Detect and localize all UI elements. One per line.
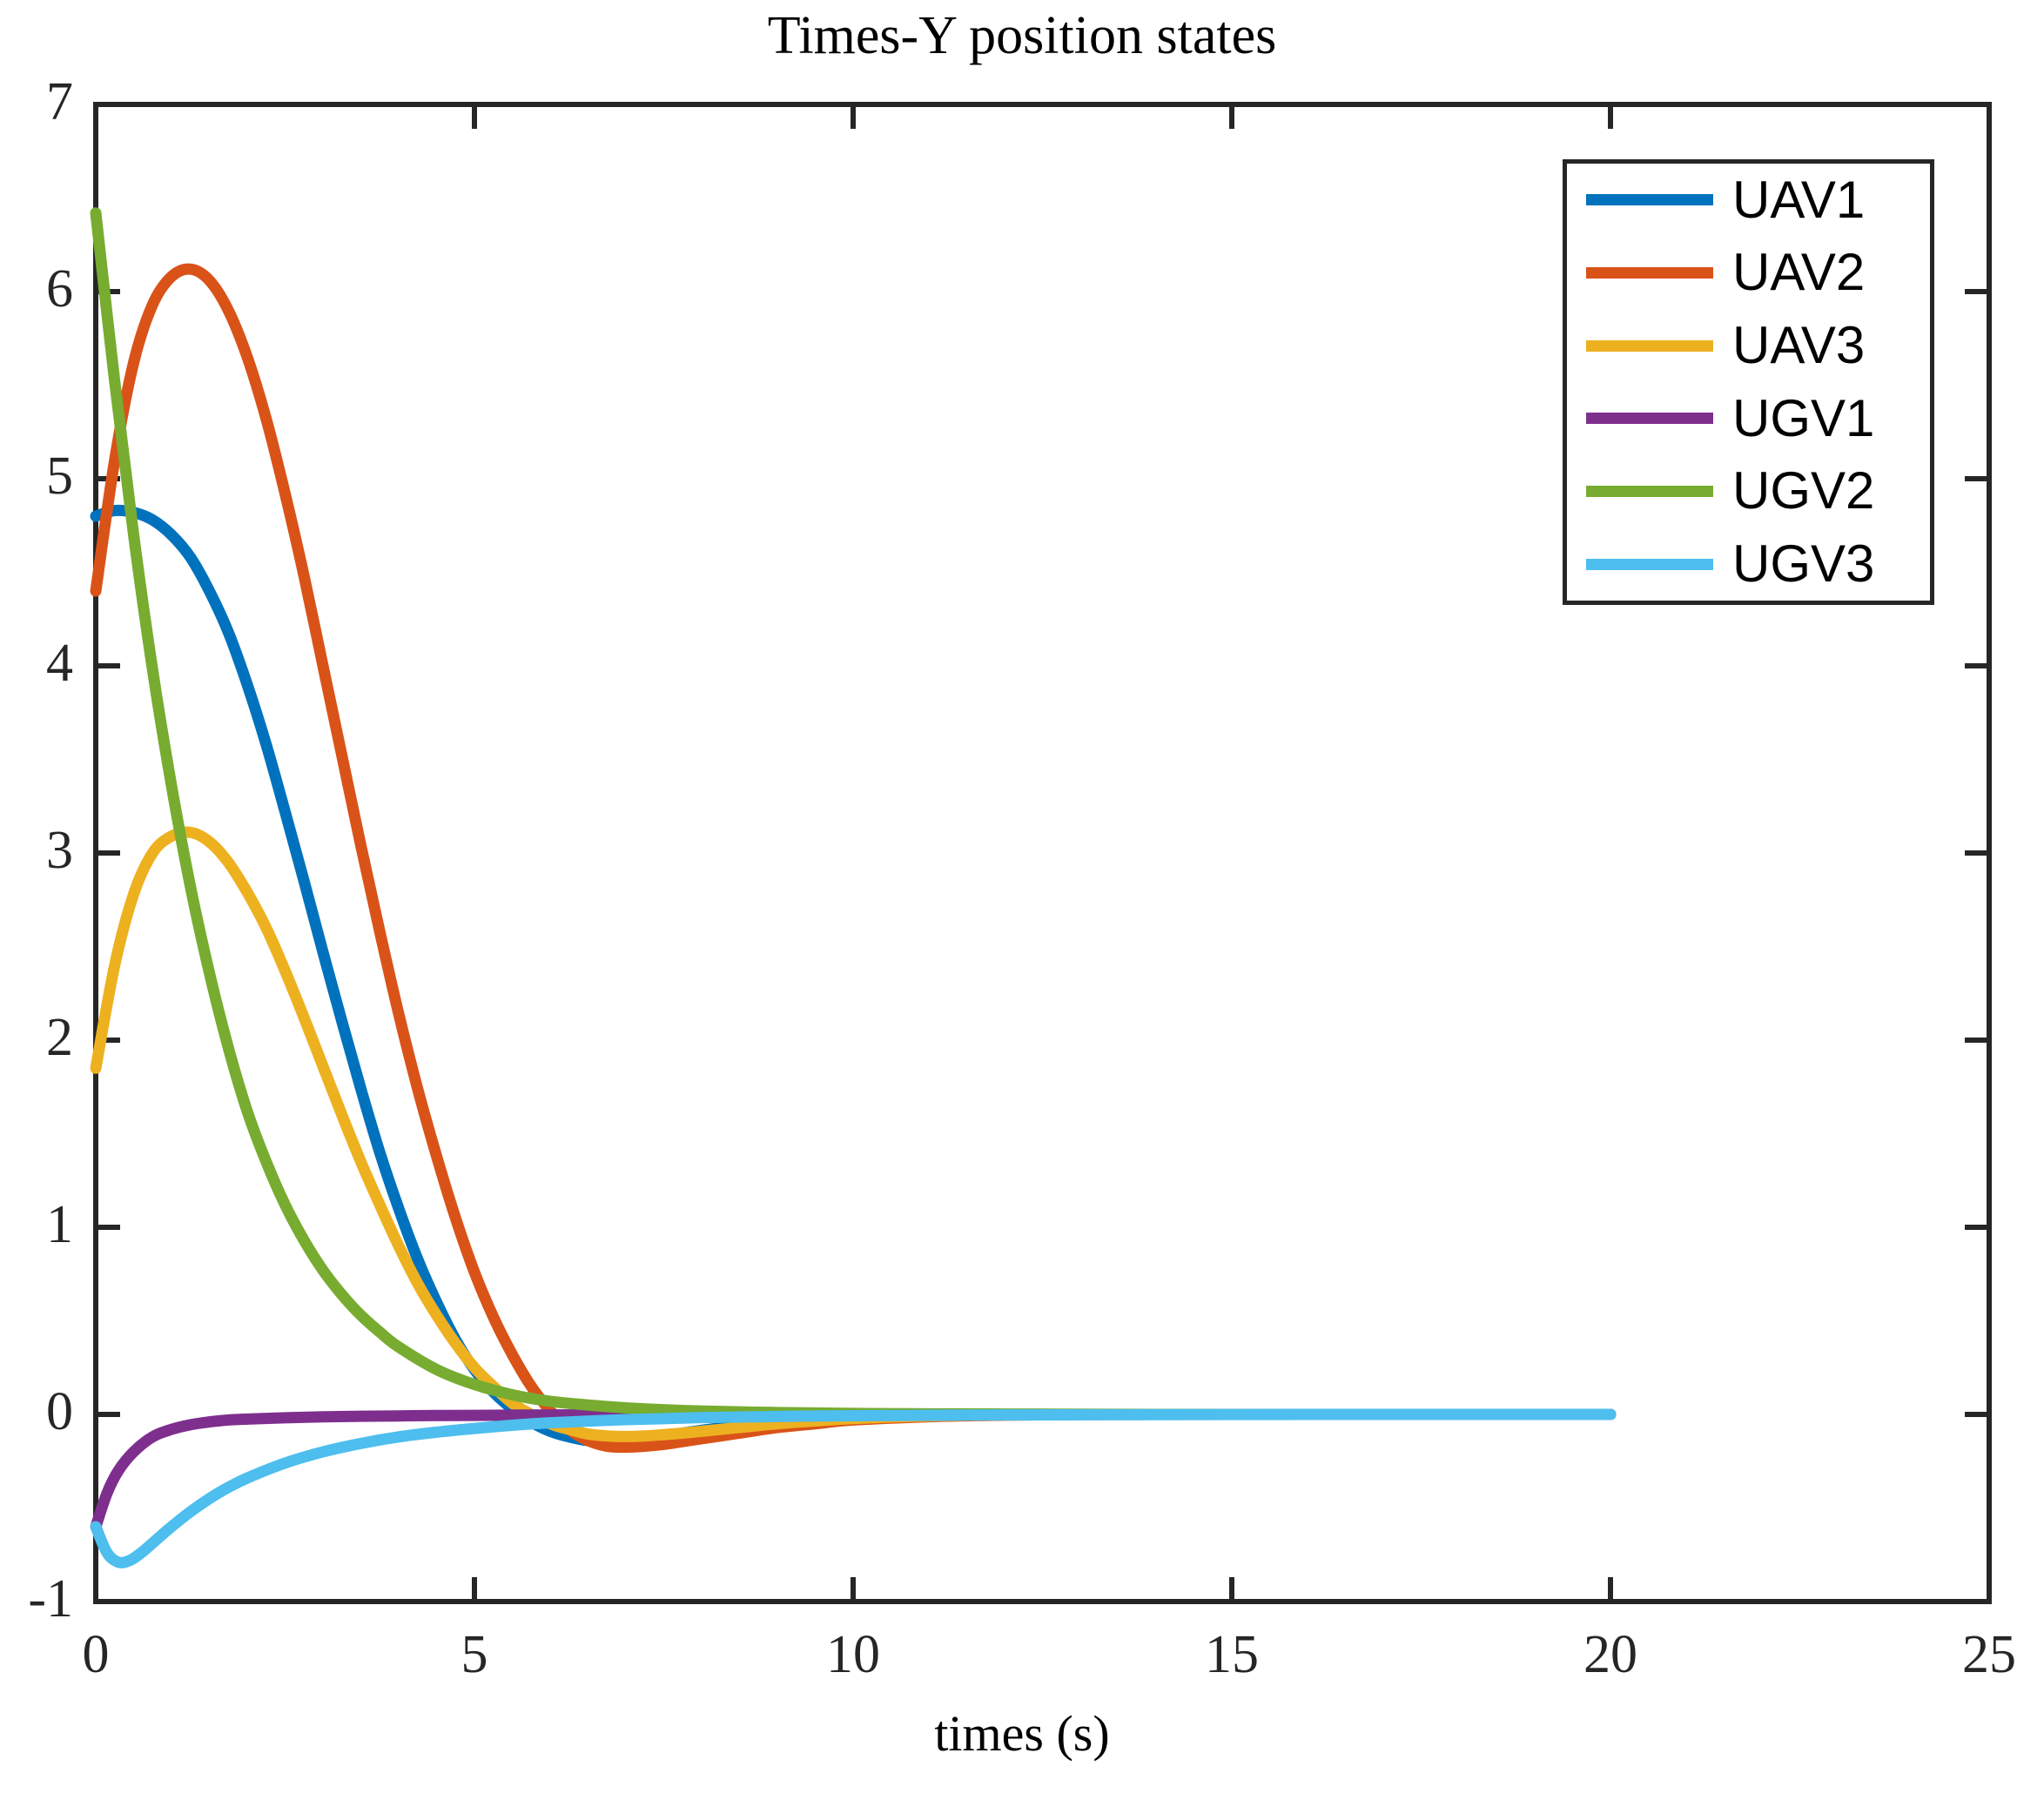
legend-swatch-uav1 [1586,194,1713,205]
legend: UAV1UAV2UAV3UGV1UGV2UGV3 [1563,159,1934,605]
legend-swatch-ugv1 [1586,413,1713,424]
y-tick-label: 1 [0,1194,73,1256]
x-axis-label: times (s) [0,1704,2044,1763]
x-tick-label: 5 [396,1624,553,1686]
legend-label: UGV1 [1732,393,1874,445]
legend-item-ugv3[interactable]: UGV3 [1567,527,1930,601]
y-tick-label: 3 [0,820,73,882]
legend-swatch-ugv3 [1586,559,1713,570]
x-tick-label: 25 [1911,1624,2044,1686]
chart-page: Times-Y position states 76543210-1 05101… [0,0,2044,1800]
legend-swatch-uav3 [1586,340,1713,352]
series-line-ugv2 [96,213,1610,1414]
x-tick-label: 20 [1532,1624,1689,1686]
legend-label: UGV2 [1732,465,1874,517]
y-tick-label: 7 [0,71,73,133]
x-tick-label: 15 [1153,1624,1310,1686]
y-tick-label: -1 [0,1568,73,1630]
legend-label: UGV3 [1732,538,1874,590]
series-line-ugv1 [96,1414,1610,1527]
y-tick-label: 6 [0,259,73,320]
legend-item-ugv2[interactable]: UGV2 [1567,455,1930,528]
x-tick-label: 10 [775,1624,931,1686]
x-tick-label: 0 [17,1624,174,1686]
legend-swatch-ugv2 [1586,486,1713,497]
legend-label: UAV2 [1732,246,1865,299]
y-tick-label: 5 [0,446,73,507]
legend-item-ugv1[interactable]: UGV1 [1567,382,1930,455]
legend-item-uav1[interactable]: UAV1 [1567,164,1930,237]
legend-swatch-uav2 [1586,267,1713,279]
legend-item-uav2[interactable]: UAV2 [1567,237,1930,310]
legend-label: UAV3 [1732,319,1865,372]
series-line-ugv3 [96,1414,1610,1562]
y-tick-label: 4 [0,633,73,695]
series-line-uav3 [96,832,1610,1436]
series-layer [96,213,1610,1563]
y-tick-label: 2 [0,1007,73,1069]
legend-item-uav3[interactable]: UAV3 [1567,309,1930,382]
y-tick-label: 0 [0,1381,73,1443]
legend-label: UAV1 [1732,174,1865,226]
